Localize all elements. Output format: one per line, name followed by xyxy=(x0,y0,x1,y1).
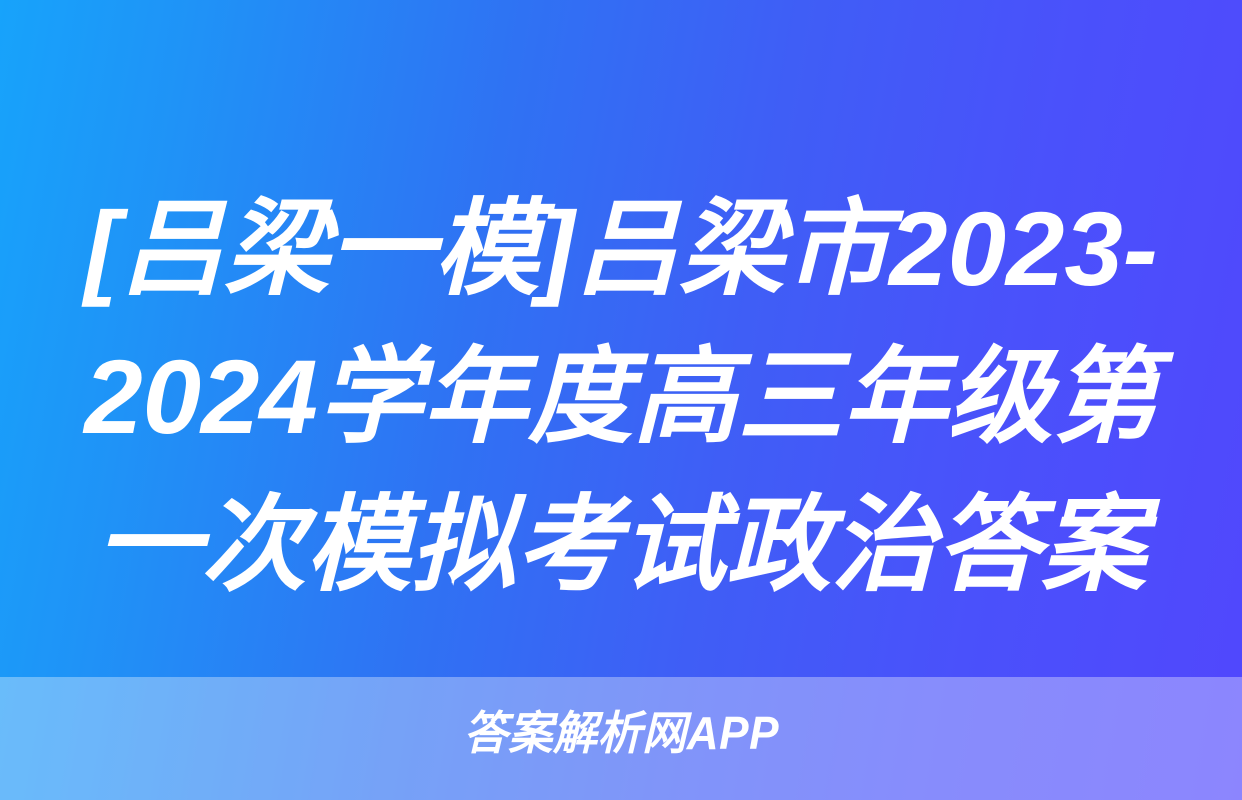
title-line-1: [吕梁一模]吕梁市2023- xyxy=(0,176,1242,324)
watermark-label: 答案解析网APP xyxy=(463,704,778,762)
exam-title-card: [吕梁一模]吕梁市2023- 2024学年度高三年级第 一次模拟考试政治答案 答… xyxy=(0,0,1242,800)
title-line-3: 一次模拟考试政治答案 xyxy=(0,472,1242,620)
page-title: [吕梁一模]吕梁市2023- 2024学年度高三年级第 一次模拟考试政治答案 xyxy=(0,176,1242,620)
title-line-2: 2024学年度高三年级第 xyxy=(0,324,1242,472)
watermark: 答案解析网APP xyxy=(0,704,1242,762)
